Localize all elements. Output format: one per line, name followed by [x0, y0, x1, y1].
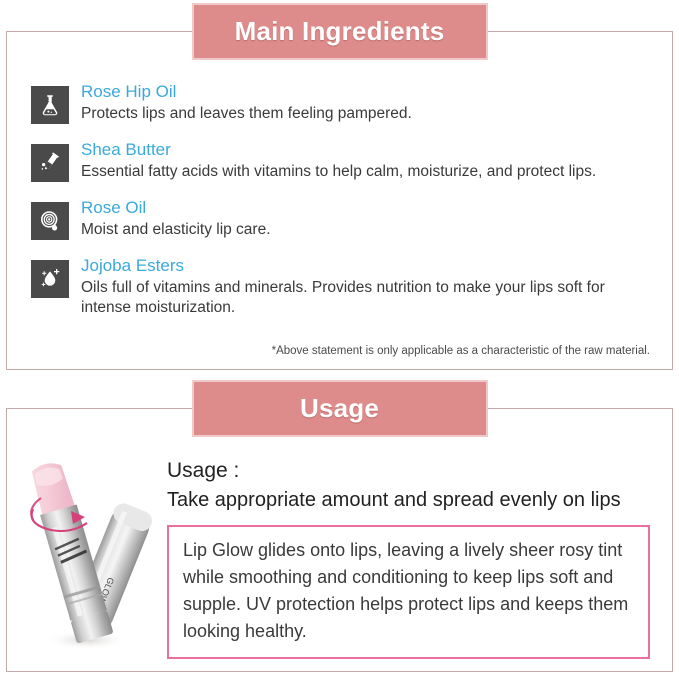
main-ingredients-banner-title: Main Ingredients: [235, 16, 445, 47]
usage-panel: GLOW: [6, 408, 673, 672]
ingredient-description: Protects lips and leaves them feeling pa…: [81, 104, 648, 124]
main-ingredients-panel: Rose Hip Oil Protects lips and leaves th…: [6, 31, 673, 370]
ingredient-list: Rose Hip Oil Protects lips and leaves th…: [31, 80, 648, 318]
ingredient-title: Jojoba Esters: [81, 255, 648, 277]
ingredient-title: Shea Butter: [81, 139, 648, 161]
ingredient-description: Moist and elasticity lip care.: [81, 220, 648, 240]
usage-instruction: Take appropriate amount and spread evenl…: [167, 485, 650, 515]
droplet-sparkle-icon: [31, 260, 69, 298]
usage-highlight-text: Lip Glow glides onto lips, leaving a liv…: [183, 537, 634, 645]
usage-banner: Usage: [192, 380, 488, 437]
ingredient-title: Rose Hip Oil: [81, 81, 648, 103]
usage-banner-title: Usage: [300, 393, 379, 424]
ingredient-item-shea-butter: Shea Butter Essential fatty acids with v…: [31, 138, 648, 182]
rose-icon: [31, 202, 69, 240]
ingredient-item-rose-oil: Rose Oil Moist and elasticity lip care.: [31, 196, 648, 240]
ingredient-title: Rose Oil: [81, 197, 648, 219]
lipstick-product-image: GLOW: [15, 441, 165, 666]
ingredient-item-rose-hip-oil: Rose Hip Oil Protects lips and leaves th…: [31, 80, 648, 124]
ingredient-text-block: Rose Hip Oil Protects lips and leaves th…: [81, 80, 648, 124]
ingredient-item-jojoba-esters: Jojoba Esters Oils full of vitamins and …: [31, 254, 648, 318]
test-tube-icon: [31, 144, 69, 182]
ingredient-description: Essential fatty acids with vitamins to h…: [81, 162, 648, 182]
ingredient-text-block: Shea Butter Essential fatty acids with v…: [81, 138, 648, 182]
ingredient-text-block: Jojoba Esters Oils full of vitamins and …: [81, 254, 648, 318]
ingredients-footnote: *Above statement is only applicable as a…: [7, 345, 650, 357]
ingredient-text-block: Rose Oil Moist and elasticity lip care.: [81, 196, 648, 240]
usage-content: Usage : Take appropriate amount and spre…: [167, 457, 650, 659]
ingredient-description: Oils full of vitamins and minerals. Prov…: [81, 278, 648, 318]
usage-label: Usage :: [167, 457, 650, 485]
flask-icon: [31, 86, 69, 124]
usage-highlight-box: Lip Glow glides onto lips, leaving a liv…: [167, 525, 650, 659]
product-detail-page: Rose Hip Oil Protects lips and leaves th…: [0, 0, 679, 679]
main-ingredients-banner: Main Ingredients: [192, 3, 488, 60]
